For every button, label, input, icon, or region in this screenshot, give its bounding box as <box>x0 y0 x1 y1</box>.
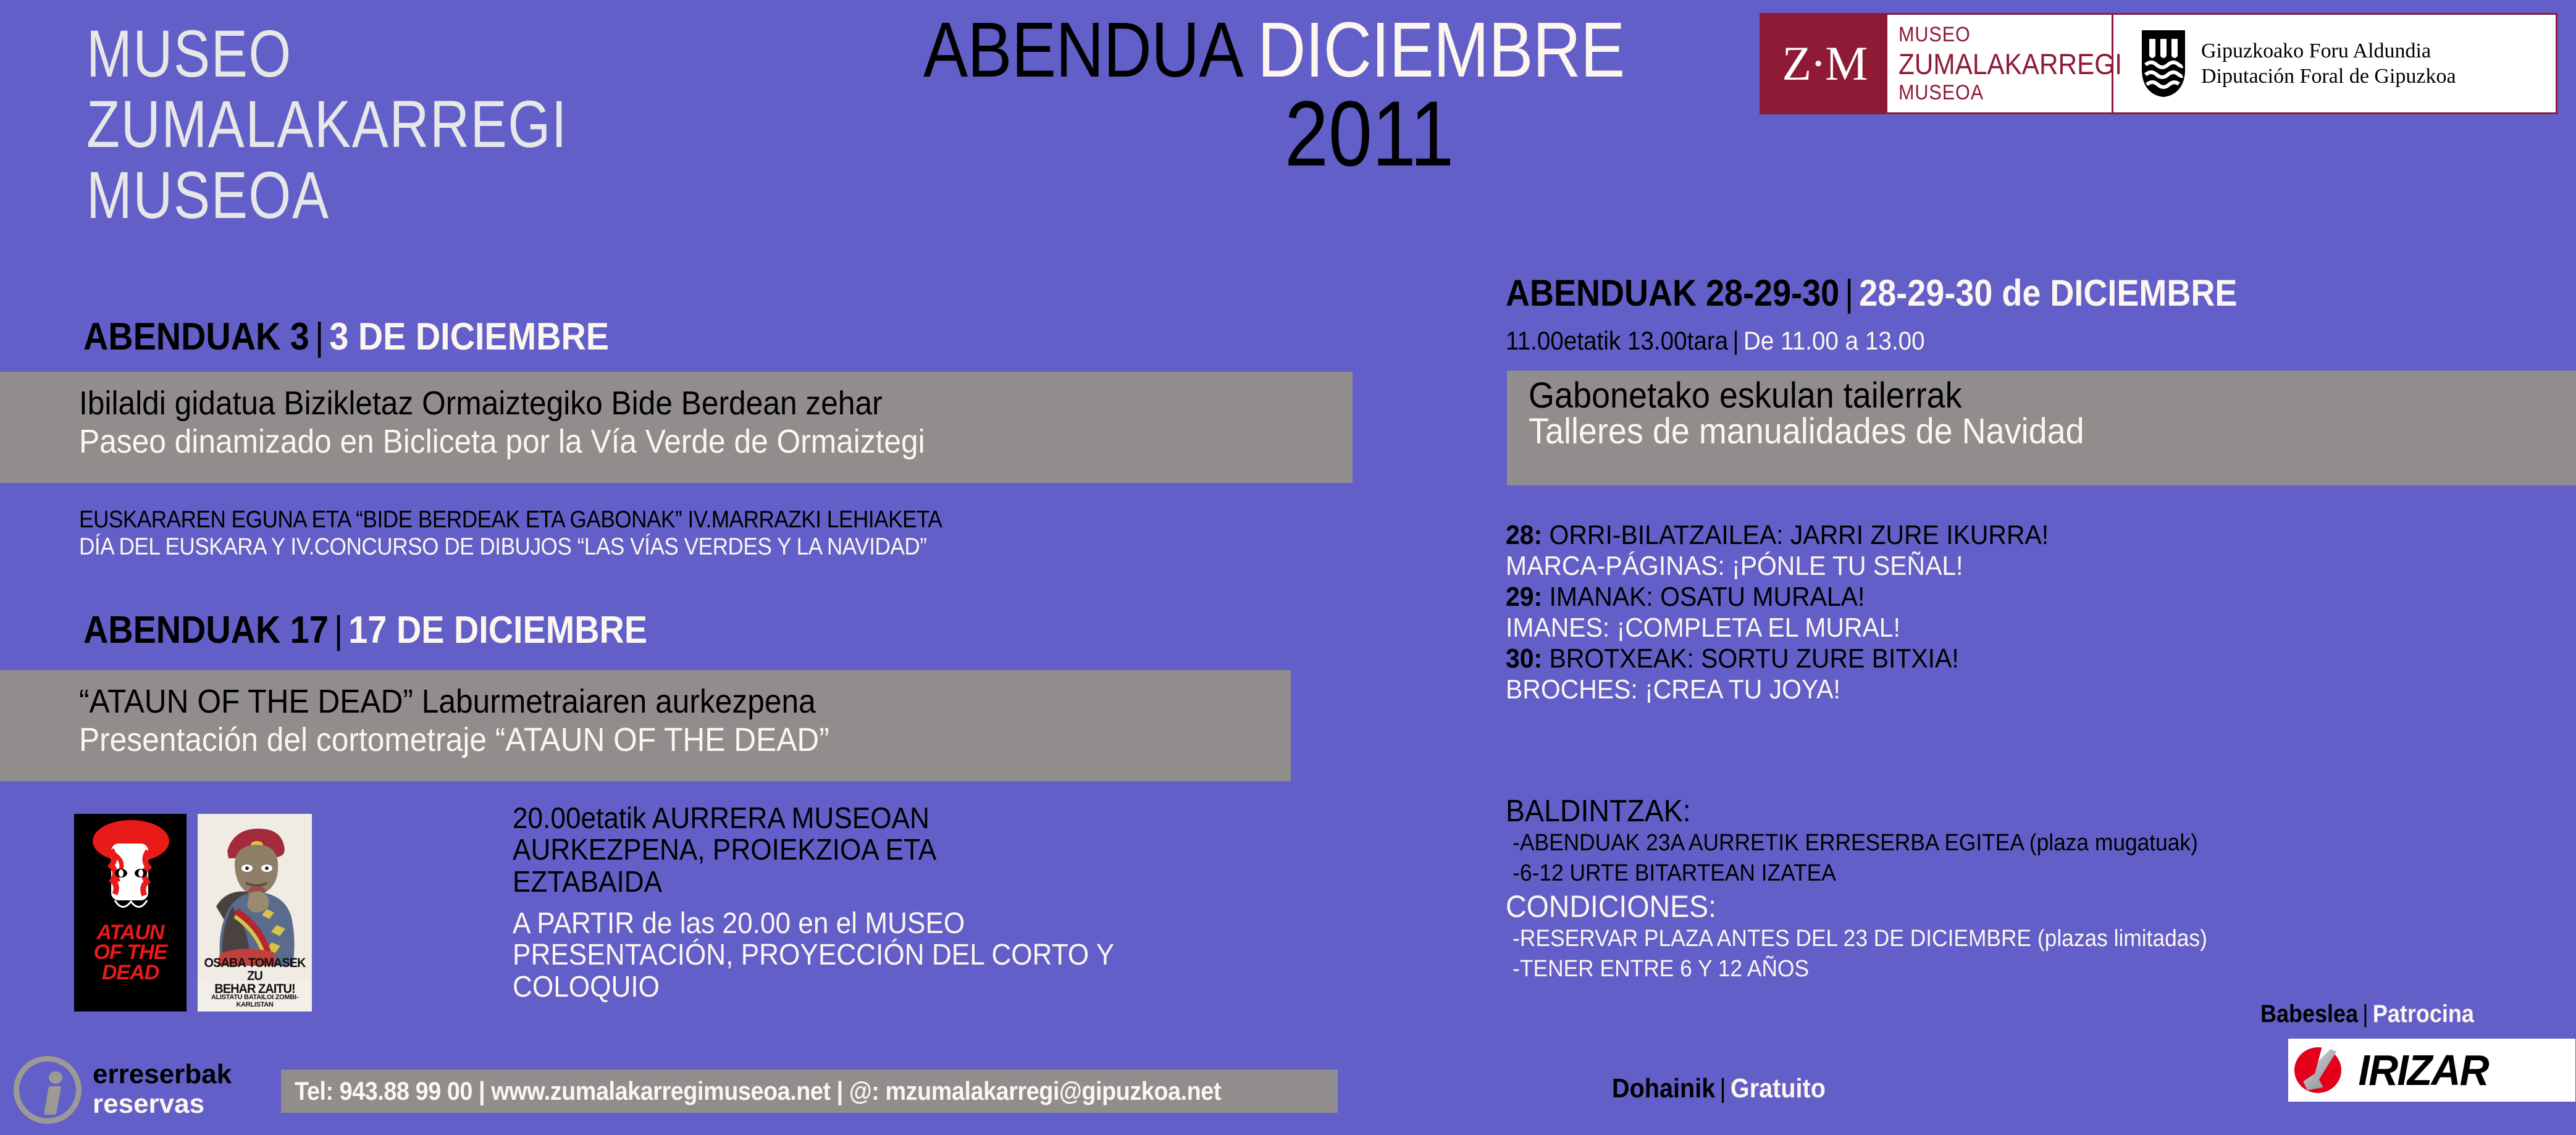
free-admission-separator: | <box>1715 1073 1731 1104</box>
info-icon-stem <box>44 1086 61 1115</box>
info-icon <box>14 1056 82 1124</box>
event-1-body-es: Paseo dinamizado en Bicliceta por la Vía… <box>79 422 925 461</box>
info-icon-dot <box>49 1071 62 1084</box>
workshop-3-es: BROCHES: ¡CREA TU JOYA! <box>1506 674 1840 705</box>
workshops-time: 11.00etatik 13.00tara|De 11.00 a 13.00 <box>1506 326 1925 356</box>
conditions-item-eu-1: -ABENDUAK 23A AURRETIK ERRESERBA EGITEA … <box>1506 828 2207 858</box>
workshop-1-day: 28: <box>1506 520 1542 550</box>
free-admission-eu: Dohainik <box>1612 1073 1715 1104</box>
workshop-item: 30: BROTXEAK: SORTU ZURE BITXIA! <box>1506 645 2089 672</box>
screening-eu-line-2: AURKEZPENA, PROIEKZIOA ETA <box>513 834 1114 866</box>
screening-es-line-2: PRESENTACIÓN, PROYECCIÓN DEL CORTO Y <box>513 939 1114 971</box>
free-admission-es: Gratuito <box>1731 1073 1826 1104</box>
event-1-heading-es: 3 DE DICIEMBRE <box>329 316 609 358</box>
reservations-label: erreserbak reservas <box>93 1060 232 1118</box>
gipuzkoa-logo: Gipuzkoako Foru Aldundia Diputación Fora… <box>2113 15 2556 112</box>
event-2-body: “ATAUN OF THE DEAD” Laburmetraiaren aurk… <box>79 682 894 759</box>
poster-a-title: ATAUN OF THE DEAD <box>74 923 187 982</box>
film-poster-osaba-tomasek: OSABA TOMASEK ZU BEHAR ZAITU! ALISTATU B… <box>198 814 312 1011</box>
zm-monogram: Z·M <box>1761 15 1887 112</box>
event-1-note-es: DÍA DEL EUSKARA Y IV.CONCURSO DE DIBUJOS… <box>79 534 942 561</box>
workshops-heading-es: 28-29-30 de DICIEMBRE <box>1859 272 2237 314</box>
event-1-body: Ibilaldi gidatua Bizikletaz Ormaiztegiko… <box>79 384 999 461</box>
workshop-1-es: MARCA-PÁGINAS: ¡PÓNLE TU SEÑAL! <box>1506 551 1963 581</box>
workshop-item: BROCHES: ¡CREA TU JOYA! <box>1506 676 2089 703</box>
workshop-1-eu: ORRI-BILATZAILEA: JARRI ZURE IKURRA! <box>1542 520 2049 550</box>
workshop-2-eu: IMANAK: OSATU MURALA! <box>1542 582 1865 612</box>
zm-line-1: MUSEO <box>1898 23 2091 47</box>
event-1-heading-eu: ABENDUAK 3 <box>83 316 309 358</box>
workshops-title-es: Talleres de manualidades de Navidad <box>1529 414 2084 450</box>
event-2-heading-separator: | <box>329 609 348 651</box>
workshop-item: MARCA-PÁGINAS: ¡PÓNLE TU SEÑAL! <box>1506 553 2089 580</box>
screening-eu-line-1: 20.00etatik AURRERA MUSEOAN <box>513 803 1114 834</box>
screening-eu-line-3: EZTABAIDA <box>513 866 1114 898</box>
event-2-heading: ABENDUAK 17|17 DE DICIEMBRE <box>83 608 647 652</box>
gipuzkoa-name-eu: Gipuzkoako Foru Aldundia <box>2201 38 2456 64</box>
conditions-item-es-2: -TENER ENTRE 6 Y 12 AÑOS <box>1506 954 2207 984</box>
workshop-2-es: IMANES: ¡COMPLETA EL MURAL! <box>1506 613 1900 643</box>
reservations-label-eu: erreserbak <box>93 1060 232 1089</box>
screening-details: 20.00etatik AURRERA MUSEOAN AURKEZPENA, … <box>513 803 1167 1003</box>
museum-title: MUSEO ZUMALAKARREGI MUSEOA <box>86 19 568 230</box>
workshops-heading-eu: ABENDUAK 28-29-30 <box>1506 272 1839 314</box>
event-1-body-eu: Ibilaldi gidatua Bizikletaz Ormaiztegiko… <box>79 384 925 422</box>
screening-es-line-1: A PARTIR de las 20.00 en el MUSEO <box>513 908 1114 939</box>
sponsor-logo-irizar: IRIZAR <box>2288 1039 2575 1102</box>
month-label-eu: ABENDUA <box>923 6 1240 93</box>
workshop-item: 29: IMANAK: OSATU MURALA! <box>1506 584 2089 611</box>
sponsor-label-eu: Babeslea <box>2260 1000 2358 1028</box>
zm-wordmark: MUSEO ZUMALAKARREGI MUSEOA <box>1887 15 2112 112</box>
workshops-heading-separator: | <box>1839 272 1859 314</box>
gipuzkoa-shield-icon <box>2139 29 2188 98</box>
event-2-body-es: Presentación del cortometraje “ATAUN OF … <box>79 721 829 759</box>
workshops-heading: ABENDUAK 28-29-30|28-29-30 de DICIEMBRE <box>1506 272 2237 314</box>
conditions-item-eu-2: -6-12 URTE BITARTEAN IZATEA <box>1506 858 2207 889</box>
workshop-item: 28: ORRI-BILATZAILEA: JARRI ZURE IKURRA! <box>1506 522 2089 549</box>
event-1-note-eu: EUSKARAREN EGUNA ETA “BIDE BERDEAK ETA G… <box>79 506 942 534</box>
sponsor-label-es: Patrocina <box>2373 1000 2474 1028</box>
event-2-body-eu: “ATAUN OF THE DEAD” Laburmetraiaren aurk… <box>79 682 829 721</box>
reservations-label-es: reservas <box>93 1089 232 1119</box>
workshops-time-separator: | <box>1728 326 1743 355</box>
contact-text[interactable]: Tel: 943.88 99 00 | www.zumalakarregimus… <box>295 1076 1221 1106</box>
film-poster-ataun-of-the-dead: ATAUN OF THE DEAD <box>74 814 187 1011</box>
zm-line-2: ZUMALAKARREGI <box>1898 47 2091 81</box>
conditions-block: BALDINTZAK: -ABENDUAK 23A AURRETIK ERRES… <box>1506 794 2260 985</box>
screening-es-line-3: COLOQUIO <box>513 971 1114 1003</box>
workshop-2-day: 29: <box>1506 582 1542 612</box>
event-1-heading-separator: | <box>309 316 329 358</box>
irizar-mark-icon <box>2288 1039 2355 1102</box>
workshops-list: 28: ORRI-BILATZAILEA: JARRI ZURE IKURRA!… <box>1506 522 2089 707</box>
year-label: 2011 <box>1285 80 1454 187</box>
gipuzkoa-wordmark: Gipuzkoako Foru Aldundia Diputación Fora… <box>2201 38 2456 90</box>
free-admission-label: Dohainik|Gratuito <box>1612 1073 1826 1104</box>
workshops-time-eu: 11.00etatik 13.00tara <box>1506 326 1728 355</box>
event-2-heading-eu: ABENDUAK 17 <box>83 609 329 651</box>
workshop-item: IMANES: ¡COMPLETA EL MURAL! <box>1506 614 2089 642</box>
workshops-time-es: De 11.00 a 13.00 <box>1743 326 1925 355</box>
event-1-heading: ABENDUAK 3|3 DE DICIEMBRE <box>83 315 609 359</box>
irizar-wordmark: IRIZAR <box>2359 1045 2488 1095</box>
contact-bar: Tel: 943.88 99 00 | www.zumalakarregimus… <box>281 1070 1338 1113</box>
screening-gap <box>513 898 1167 908</box>
poster-b-title: OSABA TOMASEK ZU BEHAR ZAITU! <box>201 957 309 995</box>
conditions-heading-es: CONDICIONES: <box>1506 889 2207 924</box>
gipuzkoa-name-es: Diputación Foral de Gipuzkoa <box>2201 64 2456 89</box>
zm-line-3: MUSEOA <box>1898 81 2091 105</box>
event-2-heading-es: 17 DE DICIEMBRE <box>348 609 647 651</box>
sponsor-label-separator: | <box>2358 1000 2373 1028</box>
sponsor-label: Babeslea|Patrocina <box>2260 1000 2474 1028</box>
workshops-title-eu: Gabonetako eskulan tailerrak <box>1529 378 2084 414</box>
conditions-item-es-1: -RESERVAR PLAZA ANTES DEL 23 DE DICIEMBR… <box>1506 924 2207 954</box>
event-1-note: EUSKARAREN EGUNA ETA “BIDE BERDEAK ETA G… <box>79 506 1038 561</box>
poster-canvas: MUSEO ZUMALAKARREGI MUSEOA ABENDUA DICIE… <box>0 0 2576 1135</box>
workshops-title: Gabonetako eskulan tailerrak Talleres de… <box>1529 378 2126 450</box>
workshop-3-day: 30: <box>1506 643 1542 674</box>
workshop-3-eu: BROTXEAK: SORTU ZURE BITXIA! <box>1542 643 1959 674</box>
month-heading: ABENDUA DICIEMBRE <box>923 5 1624 94</box>
zombie-beret-icon <box>74 814 187 925</box>
conditions-heading-eu: BALDINTZAK: <box>1506 794 2207 828</box>
logo-bar: Z·M MUSEO ZUMALAKARREGI MUSEOA Gipuzkoak… <box>1760 13 2557 114</box>
poster-b-subtitle: ALISTATU BATAILOI ZOMBI-KARLISTAN <box>198 994 312 1008</box>
